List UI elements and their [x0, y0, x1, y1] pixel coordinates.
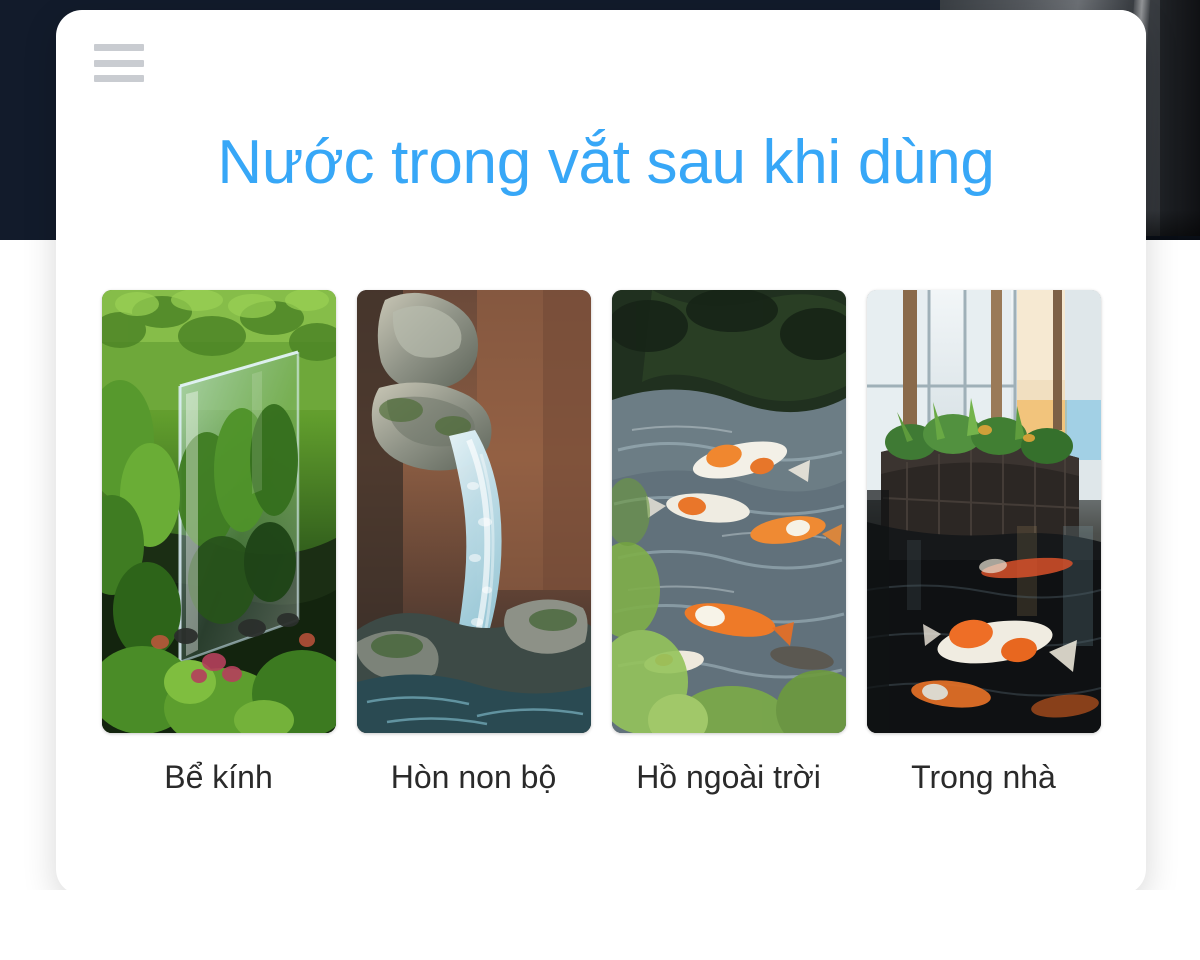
planted-glass-aquarium-photo[interactable] [102, 290, 336, 733]
screen-backdrop: Nước trong vắt sau khi dùng [0, 0, 1200, 960]
gallery-item-ho-ngoai-troi[interactable]: Hồ ngoài trời [612, 290, 846, 796]
gallery-caption: Hòn non bộ [391, 759, 556, 796]
page-title: Nước trong vắt sau khi dùng [56, 128, 1146, 197]
indoor-koi-pond-illustration [867, 290, 1101, 733]
outdoor-koi-pond-illustration [612, 290, 846, 733]
hamburger-line-3 [94, 75, 144, 82]
bottom-white-area [0, 890, 1200, 960]
indoor-koi-pond-photo[interactable] [867, 290, 1101, 733]
gallery-row: Bể kính [86, 290, 1116, 796]
gallery-item-be-kinh[interactable]: Bể kính [102, 290, 336, 796]
hamburger-menu-icon[interactable] [94, 40, 144, 86]
gallery-caption: Hồ ngoài trời [636, 759, 821, 796]
outdoor-koi-pond-photo[interactable] [612, 290, 846, 733]
rockery-waterfall-photo[interactable] [357, 290, 591, 733]
gallery-caption: Bể kính [164, 759, 273, 796]
content-card: Nước trong vắt sau khi dùng [56, 10, 1146, 895]
hamburger-line-2 [94, 60, 144, 67]
gallery-item-trong-nha[interactable]: Trong nhà [867, 290, 1101, 796]
gallery-item-hon-non-bo[interactable]: Hòn non bộ [357, 290, 591, 796]
gallery-caption: Trong nhà [911, 759, 1056, 796]
planted-glass-aquarium-illustration [102, 290, 336, 733]
hamburger-line-1 [94, 44, 144, 51]
rockery-waterfall-illustration [357, 290, 591, 733]
